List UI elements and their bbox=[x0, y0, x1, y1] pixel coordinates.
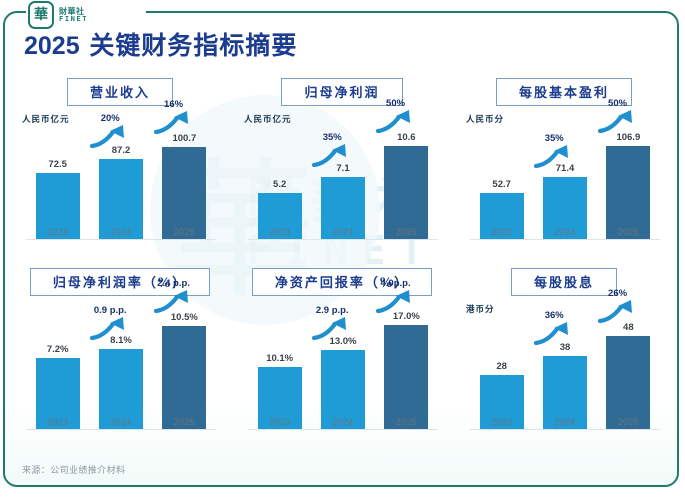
bar-series: 5.220237.1202410.62025 bbox=[248, 129, 438, 239]
panel-title: 归母净利润 bbox=[281, 78, 402, 106]
bar-slot: 71.42024 bbox=[533, 129, 596, 239]
panel-title: 营业收入 bbox=[67, 78, 173, 106]
x-axis-line bbox=[26, 429, 216, 430]
bar-chart: 7.2%20238.1%202410.5%20250.9 p.p.2.4 p.p… bbox=[26, 303, 216, 450]
bar-chart: 10.1%202313.0%202417.0%20252.9 p.p.4.0p.… bbox=[248, 303, 438, 450]
x-axis-tick-label: 2024 bbox=[311, 417, 374, 427]
x-axis-line bbox=[26, 239, 216, 240]
bar[interactable]: 100.7 bbox=[162, 147, 206, 239]
bar-series: 72.5202387.22024100.72025 bbox=[26, 129, 216, 239]
bar-slot: 13.0%2024 bbox=[311, 307, 374, 429]
x-axis-tick-label: 2025 bbox=[597, 417, 660, 427]
x-axis-tick-label: 2024 bbox=[311, 227, 374, 237]
bar-series: 10.1%202313.0%202417.0%2025 bbox=[248, 307, 438, 429]
bar-value-label: 10.1% bbox=[266, 353, 293, 364]
bar-value-label: 10.5% bbox=[171, 312, 198, 323]
bar-slot: 7.12024 bbox=[311, 129, 374, 239]
slide-canvas: 華 財華社 FINET 2025 关键财务指标摘要 華 財華社 FINET 营业… bbox=[0, 0, 685, 500]
x-axis-tick-label: 2023 bbox=[26, 227, 89, 237]
metric-panel: 每股基本盈利人民币分52.7202371.42024106.9202535%50… bbox=[456, 78, 672, 260]
bar-slot: 382024 bbox=[533, 319, 596, 429]
panel-title: 每股股息 bbox=[511, 268, 617, 296]
source-note: 来源：公司业绩推介材料 bbox=[22, 463, 125, 476]
brand-logo-text: 財華社 FINET bbox=[59, 8, 88, 23]
bar-slot: 52.72023 bbox=[470, 129, 533, 239]
bar-value-label: 106.9 bbox=[616, 132, 640, 143]
bar[interactable]: 48 bbox=[606, 336, 650, 429]
metric-panel: 营业收入人民币亿元72.5202387.22024100.7202520%16% bbox=[12, 78, 228, 260]
bar-value-label: 7.1 bbox=[336, 163, 349, 174]
bar-slot: 10.1%2023 bbox=[248, 307, 311, 429]
bar-slot: 100.72025 bbox=[153, 129, 216, 239]
panel-unit-label: 人民币分 bbox=[466, 113, 672, 125]
x-axis-tick-label: 2025 bbox=[375, 227, 438, 237]
bar-value-label: 52.7 bbox=[492, 179, 511, 190]
x-axis-tick-label: 2024 bbox=[89, 227, 152, 237]
metric-panel: 归母净利润人民币亿元5.220237.1202410.6202535%50% bbox=[234, 78, 450, 260]
bar-value-label: 8.1% bbox=[110, 335, 132, 346]
bar-value-label: 38 bbox=[560, 342, 571, 353]
x-axis-tick-label: 2025 bbox=[153, 417, 216, 427]
bar-series: 7.2%20238.1%202410.5%2025 bbox=[26, 307, 216, 429]
x-axis-line bbox=[248, 239, 438, 240]
bar-value-label: 5.2 bbox=[273, 179, 286, 190]
bar-value-label: 72.5 bbox=[48, 159, 67, 170]
page-title: 2025 关键财务指标摘要 bbox=[24, 26, 297, 62]
page-title-text: 关键财务指标摘要 bbox=[89, 31, 297, 60]
bar-slot: 106.92025 bbox=[597, 129, 660, 239]
bar-chart: 28202338202448202536%26% bbox=[470, 315, 660, 450]
x-axis-tick-label: 2023 bbox=[248, 227, 311, 237]
bar-value-label: 17.0% bbox=[393, 311, 420, 322]
bar-slot: 17.0%2025 bbox=[375, 307, 438, 429]
x-axis-tick-label: 2023 bbox=[26, 417, 89, 427]
x-axis-tick-label: 2024 bbox=[533, 227, 596, 237]
bar-value-label: 10.6 bbox=[397, 132, 416, 143]
x-axis-tick-label: 2025 bbox=[597, 227, 660, 237]
bar-slot: 5.22023 bbox=[248, 129, 311, 239]
bar-chart: 72.5202387.22024100.7202520%16% bbox=[26, 125, 216, 260]
bar-value-label: 100.7 bbox=[172, 133, 196, 144]
bar-value-label: 7.2% bbox=[47, 344, 69, 355]
x-axis-tick-label: 2024 bbox=[533, 417, 596, 427]
bar-value-label: 48 bbox=[623, 322, 634, 333]
x-axis-line bbox=[470, 239, 660, 240]
x-axis-tick-label: 2024 bbox=[89, 417, 152, 427]
bar-slot: 87.22024 bbox=[89, 129, 152, 239]
x-axis-line bbox=[470, 429, 660, 430]
x-axis-line bbox=[248, 429, 438, 430]
x-axis-tick-label: 2025 bbox=[153, 227, 216, 237]
panel-title: 归母净利润率（%） bbox=[30, 268, 210, 296]
bar-series: 52.7202371.42024106.92025 bbox=[470, 129, 660, 239]
metric-panel: 每股股息港币分28202338202448202536%26% bbox=[456, 268, 672, 450]
bar[interactable]: 106.9 bbox=[606, 146, 650, 239]
bar-value-label: 13.0% bbox=[330, 336, 357, 347]
bar-slot: 282023 bbox=[470, 319, 533, 429]
bar-slot: 482025 bbox=[597, 319, 660, 429]
x-axis-tick-label: 2025 bbox=[375, 417, 438, 427]
metric-panel: 净资产回报率（%）10.1%202313.0%202417.0%20252.9 … bbox=[234, 268, 450, 450]
metrics-grid: 营业收入人民币亿元72.5202387.22024100.7202520%16%… bbox=[12, 78, 672, 450]
bar-value-label: 28 bbox=[496, 361, 507, 372]
bar-chart: 52.7202371.42024106.9202535%50% bbox=[470, 125, 660, 260]
bar-value-label: 71.4 bbox=[556, 163, 575, 174]
metric-panel: 归母净利润率（%）7.2%20238.1%202410.5%20250.9 p.… bbox=[12, 268, 228, 450]
bar-slot: 7.2%2023 bbox=[26, 307, 89, 429]
bar[interactable]: 17.0% bbox=[384, 325, 428, 429]
panel-unit-label: 港币分 bbox=[466, 303, 672, 315]
bar-slot: 8.1%2024 bbox=[89, 307, 152, 429]
bar-slot: 10.5%2025 bbox=[153, 307, 216, 429]
bar-series: 282023382024482025 bbox=[470, 319, 660, 429]
brand-name-en: FINET bbox=[59, 16, 88, 23]
panel-title: 净资产回报率（%） bbox=[252, 268, 432, 296]
bar-slot: 10.62025 bbox=[375, 129, 438, 239]
x-axis-tick-label: 2023 bbox=[248, 417, 311, 427]
bar-value-label: 87.2 bbox=[112, 145, 131, 156]
bar-chart: 5.220237.1202410.6202535%50% bbox=[248, 125, 438, 260]
finet-logo-icon: 華 bbox=[28, 1, 54, 29]
panel-title: 每股基本盈利 bbox=[496, 78, 632, 106]
x-axis-tick-label: 2023 bbox=[470, 417, 533, 427]
page-title-year: 2025 bbox=[24, 32, 80, 60]
x-axis-tick-label: 2023 bbox=[470, 227, 533, 237]
panel-unit-label: 人民币亿元 bbox=[244, 113, 450, 125]
bar[interactable]: 10.5% bbox=[162, 326, 206, 429]
bar-slot: 72.52023 bbox=[26, 129, 89, 239]
brand-logo: 華 財華社 FINET bbox=[28, 1, 88, 29]
bar[interactable]: 10.6 bbox=[384, 146, 428, 239]
panel-unit-label: 人民币亿元 bbox=[22, 113, 228, 125]
